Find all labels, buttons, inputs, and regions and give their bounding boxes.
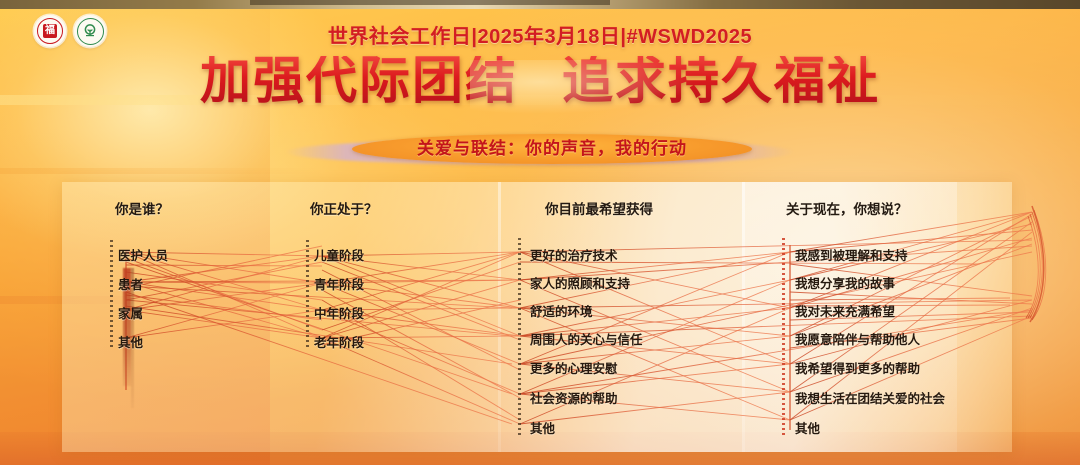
- page-title: 加强代际团结追求持久福祉: [0, 56, 1080, 107]
- pin-strip-col2: [306, 240, 309, 350]
- option-col4-1[interactable]: 我想分享我的故事: [795, 273, 895, 292]
- column-life-stage: 你正处于？: [310, 198, 378, 218]
- option-col2-0[interactable]: 儿童阶段: [314, 245, 364, 264]
- option-col3-2[interactable]: 舒适的环境: [530, 301, 593, 320]
- option-col4-0[interactable]: 我感到被理解和支持: [795, 245, 908, 264]
- option-col1-0[interactable]: 医护人员: [118, 245, 168, 264]
- option-col3-5[interactable]: 社会资源的帮助: [530, 388, 618, 407]
- option-col1-3[interactable]: 其他: [118, 332, 143, 351]
- column-header-life-stage: 你正处于？: [310, 198, 378, 218]
- event-banner-text: 世界社会工作日|2025年3月18日|#WSWD2025: [0, 20, 1080, 49]
- option-col3-0[interactable]: 更好的治疗技术: [530, 245, 618, 264]
- pin-strip-col1: [110, 240, 113, 350]
- option-col2-2[interactable]: 中年阶段: [314, 303, 364, 322]
- board-seam-left: [498, 182, 501, 452]
- option-col3-3[interactable]: 周围人的关心与信任: [530, 329, 643, 348]
- ceiling-strip-dark: [250, 0, 610, 5]
- board-seam-right: [742, 182, 745, 452]
- column-header-who-are-you: 你是谁？: [115, 198, 169, 218]
- subtitle-text: 关爱与联结：你的声音，我的行动: [352, 136, 752, 162]
- option-col1-2[interactable]: 家属: [118, 303, 143, 322]
- option-col1-1[interactable]: 患者: [118, 274, 143, 293]
- title-right: 追求持久福祉: [562, 51, 880, 111]
- option-col4-4[interactable]: 我希望得到更多的帮助: [795, 358, 920, 377]
- pin-strip-col4: [782, 238, 785, 436]
- option-col3-6[interactable]: 其他: [530, 418, 555, 437]
- option-col4-3[interactable]: 我愿意陪伴与帮助他人: [795, 329, 920, 348]
- column-what-you-want-to-say: 关于现在，你想说？: [786, 198, 908, 218]
- column-header-what-you-want-to-say: 关于现在，你想说？: [786, 198, 908, 218]
- option-col3-1[interactable]: 家人的照顾和支持: [530, 273, 630, 292]
- column-header-most-hope-to-get: 你目前最希望获得: [545, 198, 653, 218]
- option-col4-5[interactable]: 我想生活在团结关爱的社会: [795, 388, 945, 407]
- column-who-are-you: 你是谁？: [115, 198, 169, 218]
- option-col2-3[interactable]: 老年阶段: [314, 332, 364, 351]
- option-col4-2[interactable]: 我对未来充满希望: [795, 301, 895, 320]
- title-left: 加强代际团结: [200, 51, 518, 111]
- column-most-hope-to-get: 你目前最希望获得: [545, 198, 653, 218]
- option-col3-4[interactable]: 更多的心理安慰: [530, 358, 618, 377]
- pin-strip-col3: [518, 238, 521, 436]
- option-col4-6[interactable]: 其他: [795, 418, 820, 437]
- option-col2-1[interactable]: 青年阶段: [314, 274, 364, 293]
- poster-wall-screenshot: 福 世界社会工作日|2025年3月18日|#WSWD2025 加强代际团结追求持…: [0, 0, 1080, 465]
